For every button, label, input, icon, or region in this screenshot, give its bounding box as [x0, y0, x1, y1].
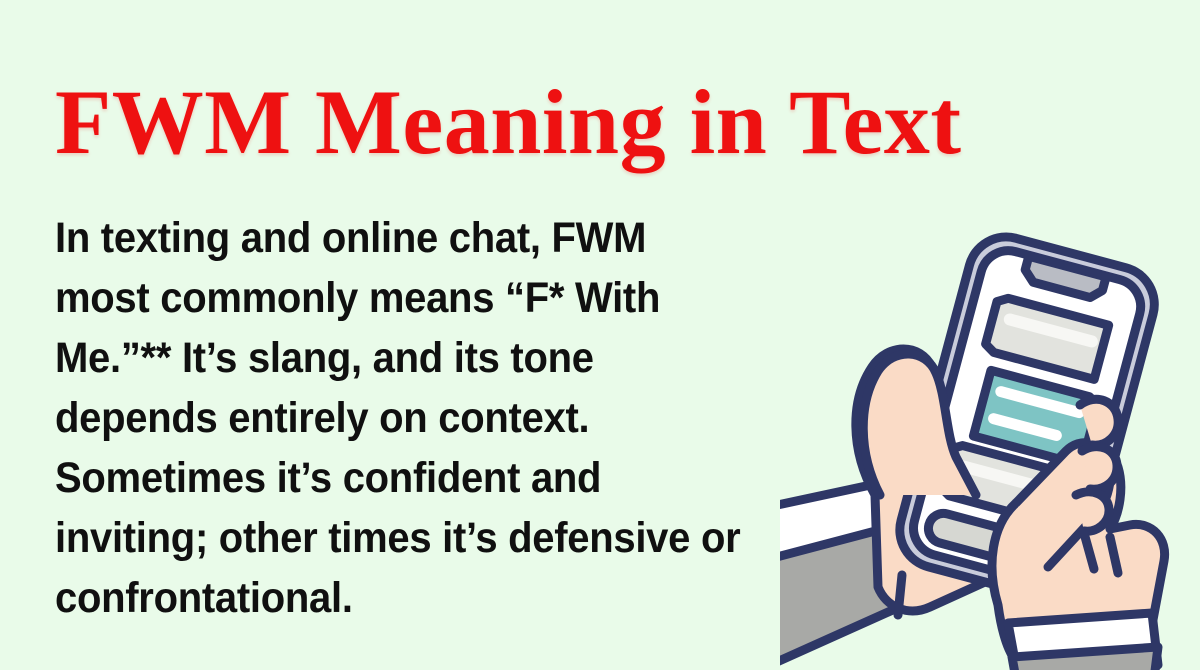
body-line: Me.”** It’s slang, and its tone: [55, 328, 734, 388]
body-line: most commonly means “F* With: [55, 268, 734, 328]
poster-canvas: FWM Meaning in Text In texting and onlin…: [0, 0, 1200, 670]
hands-holding-smartphone-illustration: [780, 195, 1200, 670]
right-sleeve-icon: [1008, 613, 1158, 670]
page-title: FWM Meaning in Text: [55, 76, 962, 168]
body-paragraph: In texting and online chat, FWM most com…: [55, 208, 785, 628]
body-line: Sometimes it’s confident and: [55, 448, 734, 508]
body-line: In texting and online chat, FWM: [55, 208, 734, 268]
body-line: inviting; other times it’s defensive or: [55, 508, 734, 568]
body-line: depends entirely on context.: [55, 388, 734, 448]
body-line: confrontational.: [55, 568, 734, 628]
